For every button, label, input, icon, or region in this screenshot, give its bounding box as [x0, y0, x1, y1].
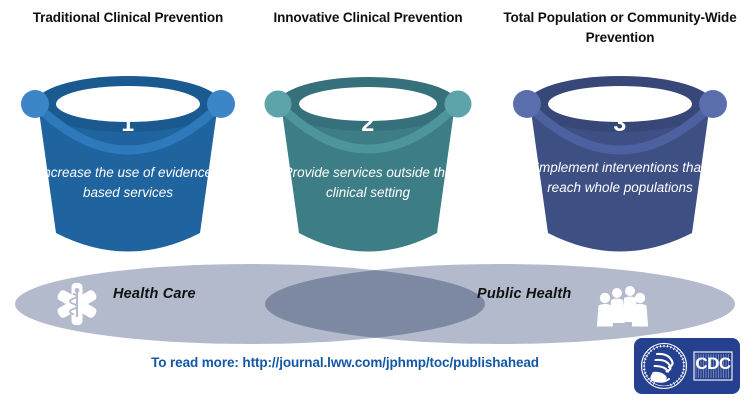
venn-label-public-health: Public Health: [477, 286, 571, 302]
bucket-caption-1: Increase the use of evidence-based servi…: [33, 163, 223, 202]
bucket-title-2: Innovative Clinical Prevention: [248, 8, 488, 28]
bucket-title-3: Total Population or Community-Wide Preve…: [500, 8, 740, 47]
bucket-number-1: 1: [8, 110, 248, 137]
cdc-logo[interactable]: CDC: [634, 338, 740, 394]
bucket-column-3: Total Population or Community-Wide Preve…: [500, 0, 740, 270]
bucket-number-3: 3: [500, 110, 740, 137]
bucket-caption-3: Implement interventions that reach whole…: [520, 158, 720, 197]
bucket-title-1: Traditional Clinical Prevention: [8, 8, 248, 28]
cdc-wordmark-text: CDC: [695, 354, 731, 373]
bucket-caption-2: Provide services outside the clinical se…: [273, 163, 463, 202]
bucket-number-2: 2: [248, 110, 488, 137]
infographic-canvas: Traditional Clinical Prevention 1 Increa…: [0, 0, 750, 400]
read-more-link[interactable]: To read more: http://journal.lww.com/jph…: [0, 355, 690, 370]
venn-label-health-care: Health Care: [113, 286, 196, 302]
bucket-column-1: Traditional Clinical Prevention 1 Increa…: [8, 0, 248, 270]
bucket-column-2: Innovative Clinical Prevention 2 Provide…: [248, 0, 488, 270]
